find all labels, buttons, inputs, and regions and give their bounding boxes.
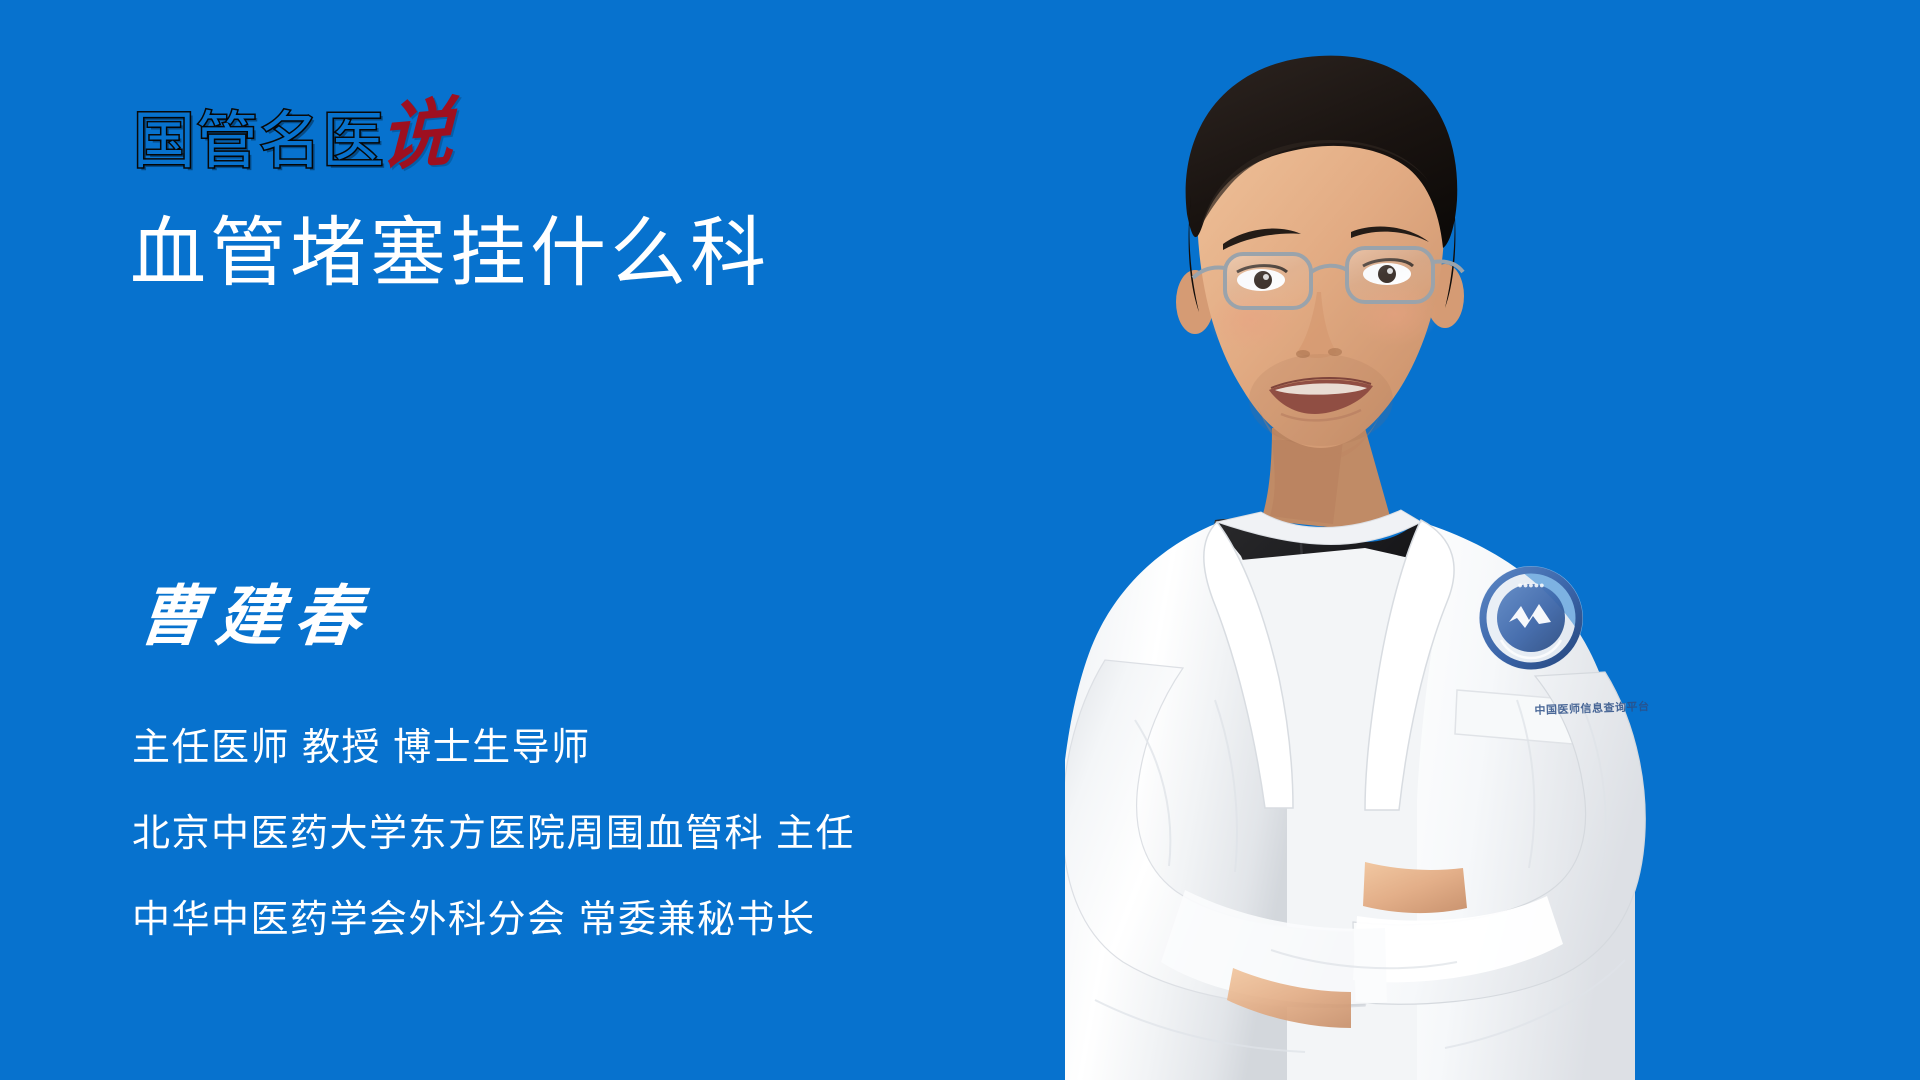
doctor-credentials: 主任医师 教授 博士生导师 北京中医药大学东方医院周围血管科 主任 中华中医药学… [132, 705, 855, 963]
video-cover-canvas: 国管名医 说 血管堵塞挂什么科 曹建春 主任医师 教授 博士生导师 北京中医药大… [0, 0, 1920, 1080]
doctor-portrait-image: ●●●●● [1065, 0, 1920, 1080]
doctor-name-signature: 曹建春 [134, 572, 377, 660]
stubble-shadow [1249, 354, 1393, 446]
credential-line-3: 中华中医药学会外科分会 常委兼秘书长 [132, 877, 855, 963]
doctor-portrait-svg: ●●●●● [1065, 0, 1920, 1080]
lens-left [1225, 254, 1311, 308]
doctor-body-group: ●●●●● [1065, 428, 1645, 1080]
brand-logo-accent-text: 说 [379, 101, 454, 170]
brand-logo-main-text: 国管名医 [133, 110, 385, 172]
brand-logo: 国管名医 说 [133, 88, 453, 172]
credential-line-2: 北京中医药大学东方医院周围血管科 主任 [132, 791, 855, 877]
coat-badge-emblem: ●●●●● [1479, 566, 1583, 670]
lens-right [1347, 248, 1433, 302]
credential-line-1: 主任医师 教授 博士生导师 [132, 705, 855, 791]
neck-shadow [1270, 440, 1343, 524]
doctor-head-group [1176, 56, 1464, 462]
hand-skin-right [1363, 862, 1467, 913]
page-title: 血管堵塞挂什么科 [130, 206, 770, 302]
svg-text:●●●●●: ●●●●● [1517, 580, 1544, 590]
